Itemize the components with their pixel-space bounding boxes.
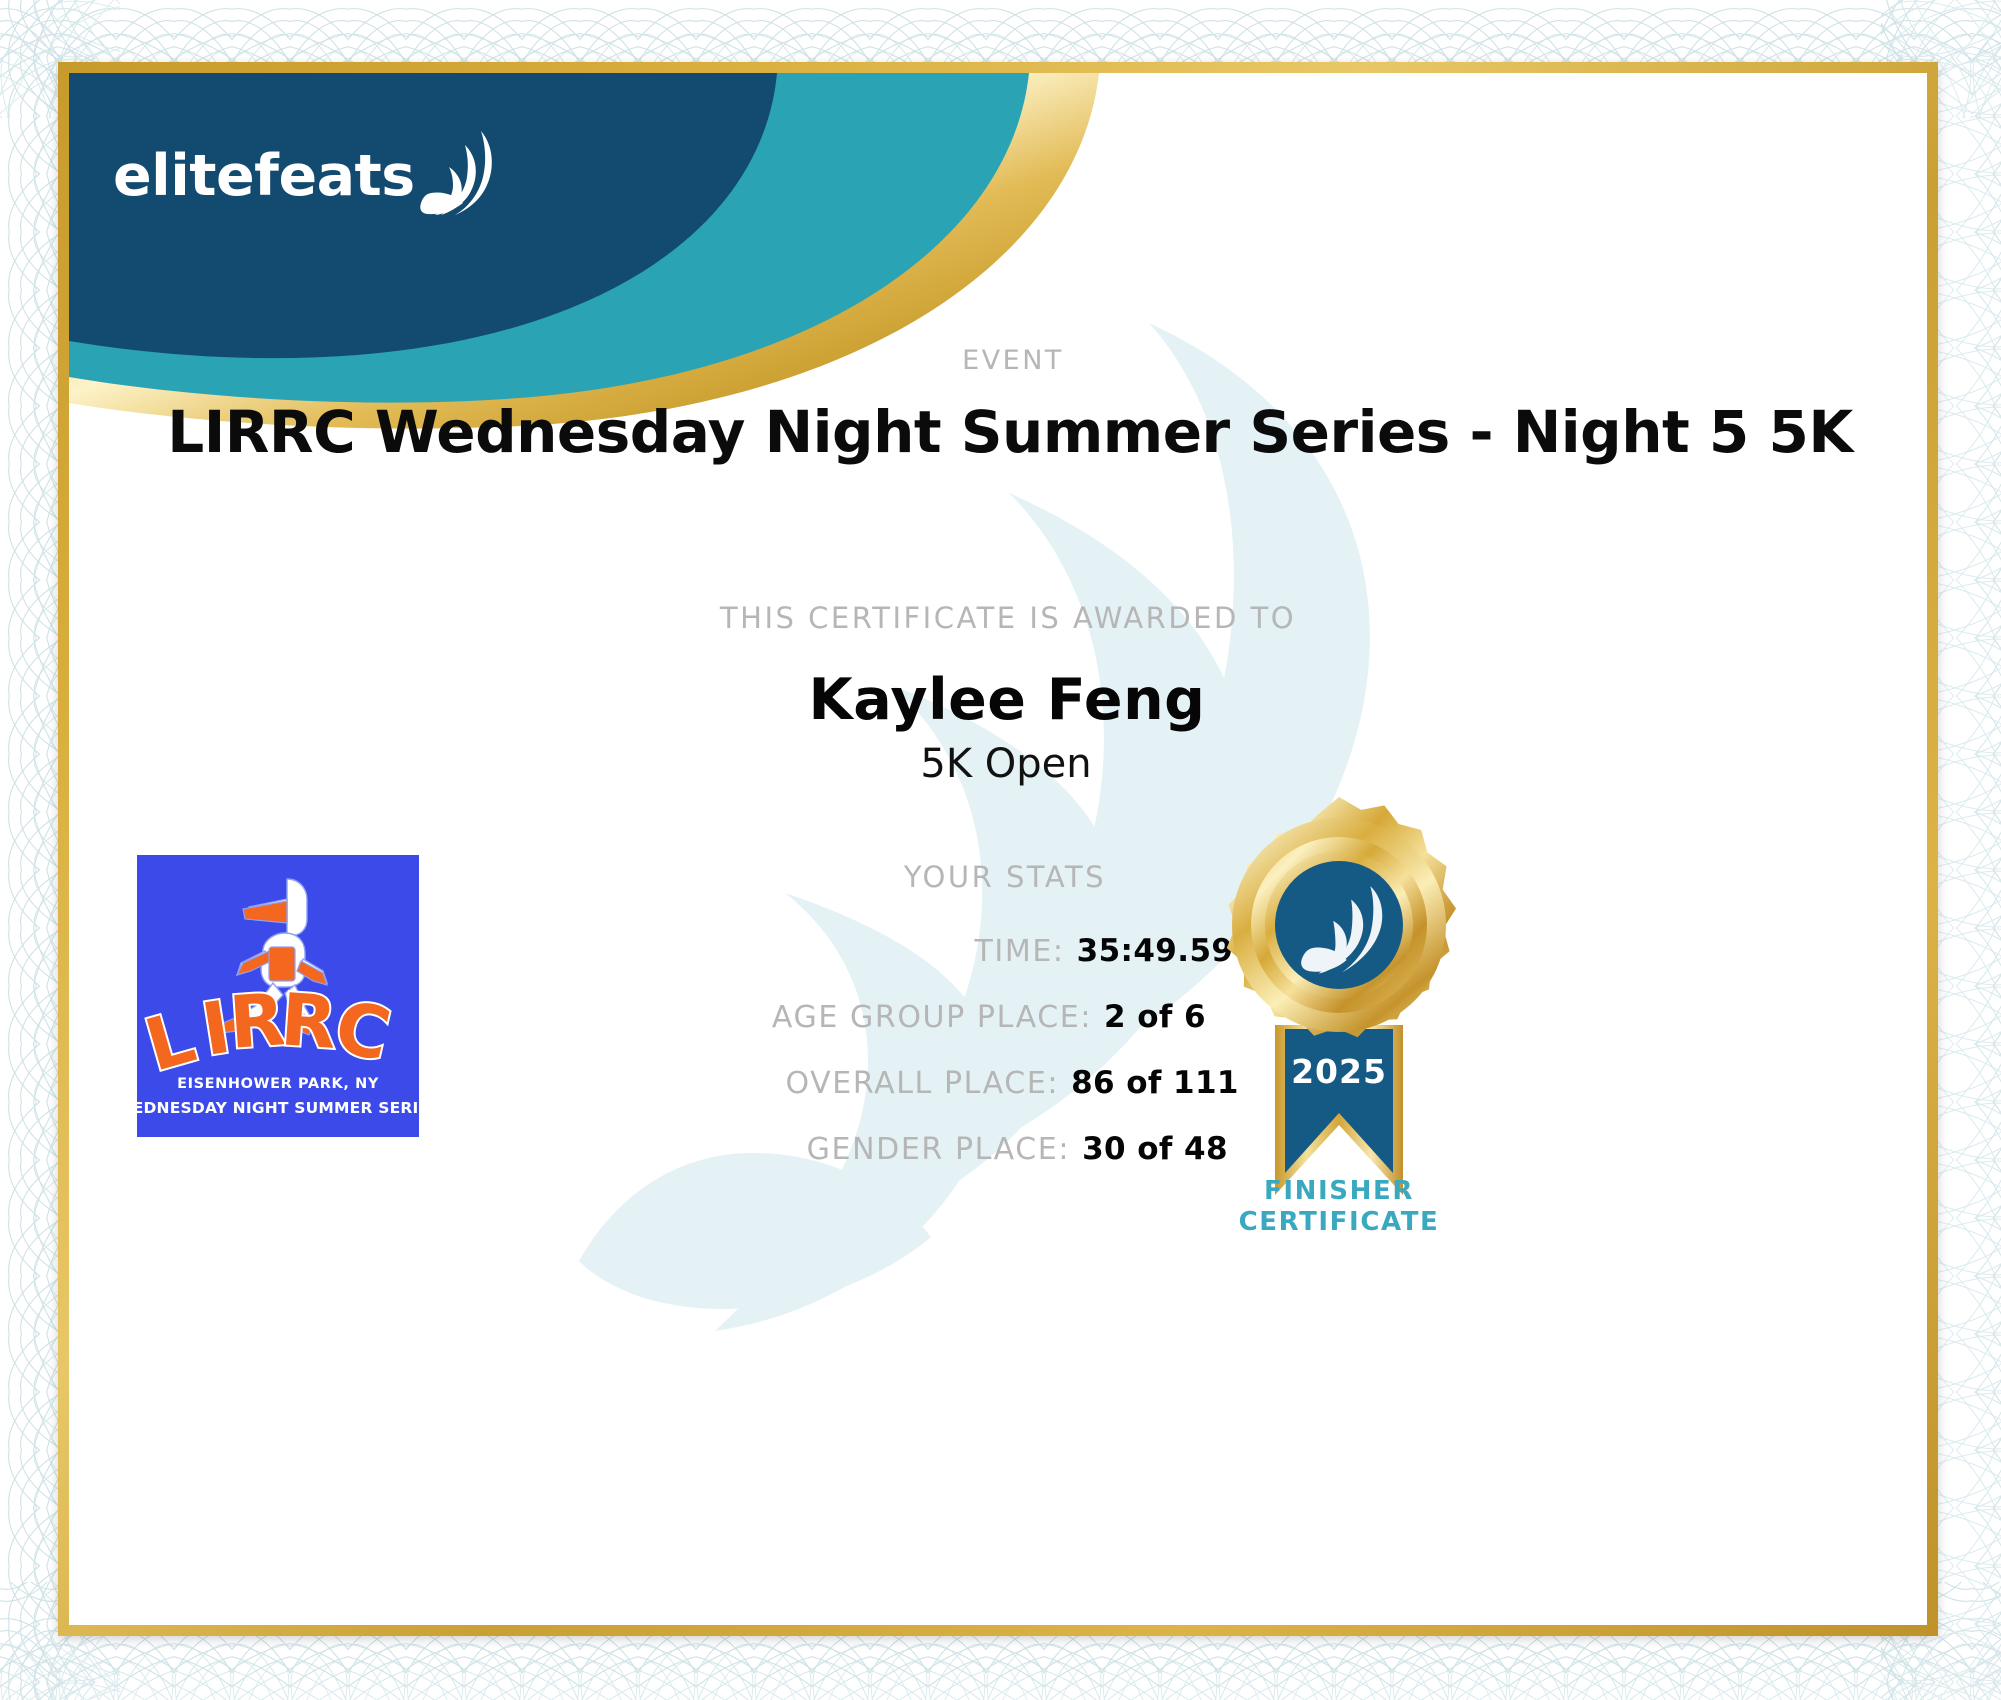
event-title: LIRRC Wednesday Night Summer Series - Ni… — [69, 398, 1927, 466]
winged-foot-icon — [419, 129, 511, 215]
lirrc-logo-graphic: L I R R C EISENHOWER PARK, NY WEDNESDAY … — [137, 855, 419, 1137]
certificate-card: elitefeats EVENT LIRRC Wednesday Night S… — [69, 73, 1927, 1625]
lirrc-location: EISENHOWER PARK, NY — [177, 1076, 379, 1092]
finisher-medal-badge: 2025 — [1209, 795, 1469, 1215]
stat-label: TIME: — [505, 934, 1065, 969]
brand-logo: elitefeats — [113, 129, 511, 205]
stat-label: AGE GROUP PLACE: — [532, 1000, 1092, 1035]
badge-caption-line1: FINISHER — [1179, 1176, 1499, 1207]
badge-caption: FINISHER CERTIFICATE — [1179, 1176, 1499, 1237]
event-label: EVENT — [69, 345, 1927, 376]
lirrc-series: WEDNESDAY NIGHT SUMMER SERIES — [137, 1099, 419, 1117]
division-name: 5K Open — [69, 741, 1927, 787]
stat-value: 2 of 6 — [1104, 999, 1206, 1035]
stat-label: GENDER PLACE: — [510, 1132, 1070, 1167]
event-club-logo: L I R R C EISENHOWER PARK, NY WEDNESDAY … — [137, 855, 419, 1137]
stat-label: OVERALL PLACE: — [499, 1066, 1059, 1101]
stat-value: 30 of 48 — [1082, 1131, 1228, 1167]
badge-caption-line2: CERTIFICATE — [1179, 1207, 1499, 1238]
brand-name: elitefeats — [113, 148, 415, 205]
recipient-name: Kaylee Feng — [69, 667, 1927, 733]
badge-year: 2025 — [1291, 1052, 1387, 1091]
certificate-gold-frame: elitefeats EVENT LIRRC Wednesday Night S… — [58, 62, 1938, 1636]
certificate-page: elitefeats EVENT LIRRC Wednesday Night S… — [0, 0, 2001, 1700]
awarded-to-label: THIS CERTIFICATE IS AWARDED TO — [69, 601, 1927, 635]
